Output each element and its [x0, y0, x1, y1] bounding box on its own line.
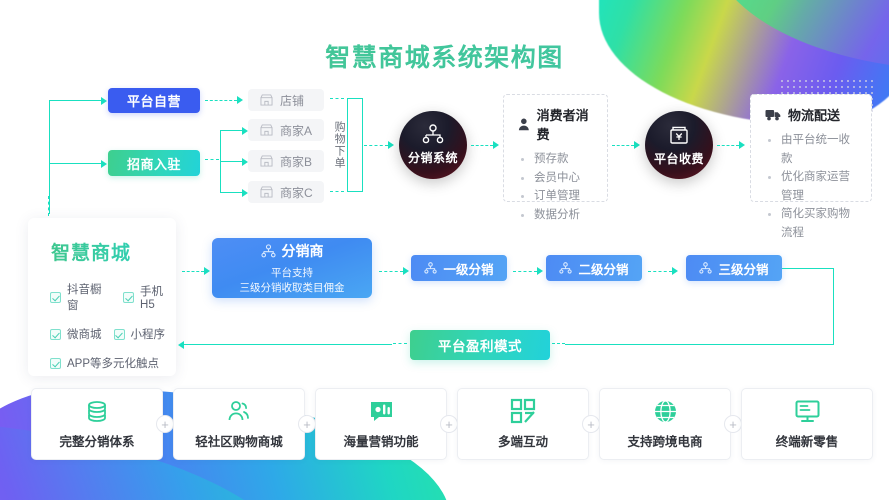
list-item: 预存款: [518, 150, 595, 169]
list-item: 数据分析: [518, 206, 595, 225]
panel-title: 智慧商城: [51, 238, 176, 265]
left-bracket-dashed-tail: [48, 196, 50, 216]
arrow-back-to-panel: [178, 341, 184, 349]
checkbox-mini-program[interactable]: 小程序: [114, 326, 166, 342]
check-icon: [123, 292, 134, 303]
merchant-branch-c: [220, 192, 244, 193]
store-box-merchant-c-label: 商家C: [280, 184, 313, 201]
feature-separator-5: +: [724, 415, 742, 433]
dashed-arrow-panel-to-distributor: [182, 267, 210, 275]
info-card-logistics-title: 物流配送: [788, 105, 840, 124]
dashed-arrow-to-level-3: [648, 267, 678, 275]
globe-icon: [653, 399, 678, 424]
store-box-merchant-b-label: 商家B: [280, 153, 312, 170]
shop-icon: [260, 155, 273, 167]
circle-platform-fee[interactable]: 平台收费: [645, 111, 713, 179]
store-box-merchant-a-label: 商家A: [280, 122, 312, 139]
dashed-arrow-selfrun-to-store: [205, 96, 243, 104]
network-icon: [422, 124, 444, 144]
check-icon: [50, 358, 61, 369]
checkbox-douyin-showcase[interactable]: 抖音橱窗: [50, 281, 111, 313]
circle-distribution-system[interactable]: 分销系统: [399, 111, 467, 179]
store-box-shop[interactable]: 店铺: [248, 89, 324, 111]
network-icon: [261, 244, 276, 258]
shop-icon: [260, 124, 273, 136]
profit-dash-left: [393, 343, 407, 344]
cash-box-icon: [669, 124, 689, 145]
network-icon: [559, 262, 572, 274]
info-card-consumer-list: 预存款 会员中心 订单管理 数据分析: [518, 150, 595, 224]
list-item: 由平台统一收款: [765, 131, 859, 168]
feature-card-new-retail-terminal-label: 终端新零售: [776, 431, 839, 450]
feature-card-full-distribution-system[interactable]: 完整分销体系: [31, 388, 163, 460]
distributor-main-title: 分销商: [282, 241, 324, 261]
store-box-shop-label: 店铺: [280, 92, 304, 109]
feature-separator-1: +: [156, 415, 174, 433]
info-card-logistics: 物流配送 由平台统一收款 优化商家运营管理 简化买家购物流程: [750, 94, 872, 202]
flow-button-merchant-onboarding-label: 招商入驻: [127, 154, 181, 173]
distribution-level-3[interactable]: 三级分销: [686, 255, 782, 281]
page-title: 智慧商城系统架构图: [0, 38, 889, 74]
left-bracket-to-selfrun: [49, 100, 103, 101]
dashed-arrow-to-platform-fee: [612, 141, 640, 149]
feature-card-full-distribution-system-label: 完整分销体系: [59, 431, 134, 450]
profit-return-bottom-right: [565, 344, 834, 345]
people-icon: [226, 398, 252, 424]
shop-icon: [260, 186, 273, 198]
feature-separator-2: +: [298, 415, 316, 433]
truck-icon: [765, 108, 781, 121]
monitor-icon: [794, 399, 821, 424]
flow-button-platform-self-run-label: 平台自营: [127, 91, 181, 110]
list-item: 优化商家运营管理: [765, 168, 859, 205]
network-icon: [699, 262, 712, 274]
info-card-consumer: 消费者消费 预存款 会员中心 订单管理 数据分析: [503, 94, 608, 202]
distributor-main-subtitle-2: 三级分销收取类目佣金: [240, 281, 345, 296]
info-card-consumer-title: 消费者消费: [537, 105, 595, 143]
distributor-main-card[interactable]: 分销商 平台支持 三级分销收取类目佣金: [212, 238, 372, 298]
marketing-bubble-icon: [368, 399, 395, 424]
profit-dash-right: [552, 343, 565, 344]
flow-button-platform-self-run[interactable]: 平台自营: [108, 88, 200, 113]
platform-profit-model-label: 平台盈利模式: [438, 335, 522, 355]
shop-icon: [260, 94, 273, 106]
dashed-arrow-invest-to-branch: [205, 159, 219, 160]
dashed-arrow-to-consumer-card: [471, 141, 499, 149]
coins-icon: [84, 398, 110, 424]
shopping-order-label: 购物下单: [333, 121, 345, 169]
architecture-diagram-canvas: 智慧商城系统架构图 平台自营 招商入驻 店铺: [0, 0, 889, 500]
multi-screen-icon: [510, 398, 536, 424]
arrow-to-selfrun: [101, 97, 107, 105]
panel-row-1: 抖音橱窗 手机H5: [50, 281, 176, 313]
checkbox-wechat-mall[interactable]: 微商城: [50, 326, 102, 342]
user-icon: [518, 117, 530, 131]
store-collector-dash-bottom: [330, 191, 344, 192]
checkbox-app-multi-touchpoint-label: APP等多元化触点: [67, 355, 159, 371]
feature-card-new-retail-terminal[interactable]: 终端新零售: [741, 388, 873, 460]
checkbox-app-multi-touchpoint[interactable]: APP等多元化触点: [50, 355, 176, 371]
distribution-level-1[interactable]: 一级分销: [411, 255, 507, 281]
checkbox-mini-program-label: 小程序: [131, 326, 166, 342]
profit-return-bottom-left: [184, 344, 392, 345]
dashed-arrow-to-distribution-system: [364, 141, 394, 149]
store-box-merchant-c[interactable]: 商家C: [248, 181, 324, 203]
check-icon: [50, 329, 61, 340]
store-box-merchant-a[interactable]: 商家A: [248, 119, 324, 141]
distribution-level-2[interactable]: 二级分销: [546, 255, 642, 281]
checkbox-mobile-h5[interactable]: 手机H5: [123, 281, 176, 313]
store-collector-top: [347, 98, 363, 99]
check-icon: [114, 329, 125, 340]
list-item: 会员中心: [518, 169, 595, 188]
feature-card-multi-terminal-interaction-label: 多端互动: [498, 431, 548, 450]
network-icon: [424, 262, 437, 274]
distribution-level-3-label: 三级分销: [718, 259, 768, 278]
distribution-level-2-label: 二级分销: [578, 259, 628, 278]
panel-row-3: APP等多元化触点: [50, 355, 176, 371]
feature-card-marketing-functions[interactable]: 海量营销功能: [315, 388, 447, 460]
feature-card-cross-border-ecommerce[interactable]: 支持跨境电商: [599, 388, 731, 460]
feature-card-light-community-mall[interactable]: 轻社区购物商城: [173, 388, 305, 460]
store-collector-vertical: [347, 98, 348, 192]
distributor-main-subtitle-1: 平台支持: [240, 266, 345, 281]
left-bracket-to-invest: [49, 163, 103, 164]
feature-card-multi-terminal-interaction[interactable]: 多端互动: [457, 388, 589, 460]
circle-distribution-system-label: 分销系统: [408, 149, 458, 166]
circle-platform-fee-label: 平台收费: [654, 150, 704, 167]
distribution-level-1-label: 一级分销: [443, 259, 493, 278]
merchant-branch-a: [220, 130, 244, 131]
info-card-logistics-list: 由平台统一收款 优化商家运营管理 简化买家购物流程: [765, 131, 859, 242]
store-collector-dash-top: [330, 98, 344, 99]
platform-profit-model-button[interactable]: 平台盈利模式: [410, 330, 550, 360]
list-item: 简化买家购物流程: [765, 205, 859, 242]
dashed-arrow-to-logistics-card: [717, 141, 745, 149]
checkbox-mobile-h5-label: 手机H5: [140, 283, 176, 311]
panel-row-2: 微商城 小程序: [50, 326, 176, 342]
smart-mall-panel: 智慧商城 抖音橱窗 手机H5 微商城 小程序 APP等: [28, 218, 176, 376]
feature-card-light-community-mall-label: 轻社区购物商城: [195, 431, 283, 450]
feature-card-marketing-functions-label: 海量营销功能: [343, 431, 418, 450]
arrow-to-invest: [101, 160, 107, 168]
profit-return-top: [782, 268, 834, 269]
checkbox-douyin-showcase-label: 抖音橱窗: [67, 281, 111, 313]
feature-separator-4: +: [582, 415, 600, 433]
check-icon: [50, 292, 61, 303]
feature-separator-3: +: [440, 415, 458, 433]
store-collector-bottom: [347, 191, 363, 192]
profit-return-vertical-right: [833, 268, 834, 345]
dashed-arrow-to-level-2: [513, 267, 543, 275]
checkbox-wechat-mall-label: 微商城: [67, 326, 102, 342]
flow-button-merchant-onboarding[interactable]: 招商入驻: [108, 150, 200, 176]
store-box-merchant-b[interactable]: 商家B: [248, 150, 324, 172]
list-item: 订单管理: [518, 187, 595, 206]
feature-card-cross-border-ecommerce-label: 支持跨境电商: [627, 431, 702, 450]
dashed-arrow-to-level-1: [379, 267, 409, 275]
merchant-branch-b: [220, 161, 244, 162]
